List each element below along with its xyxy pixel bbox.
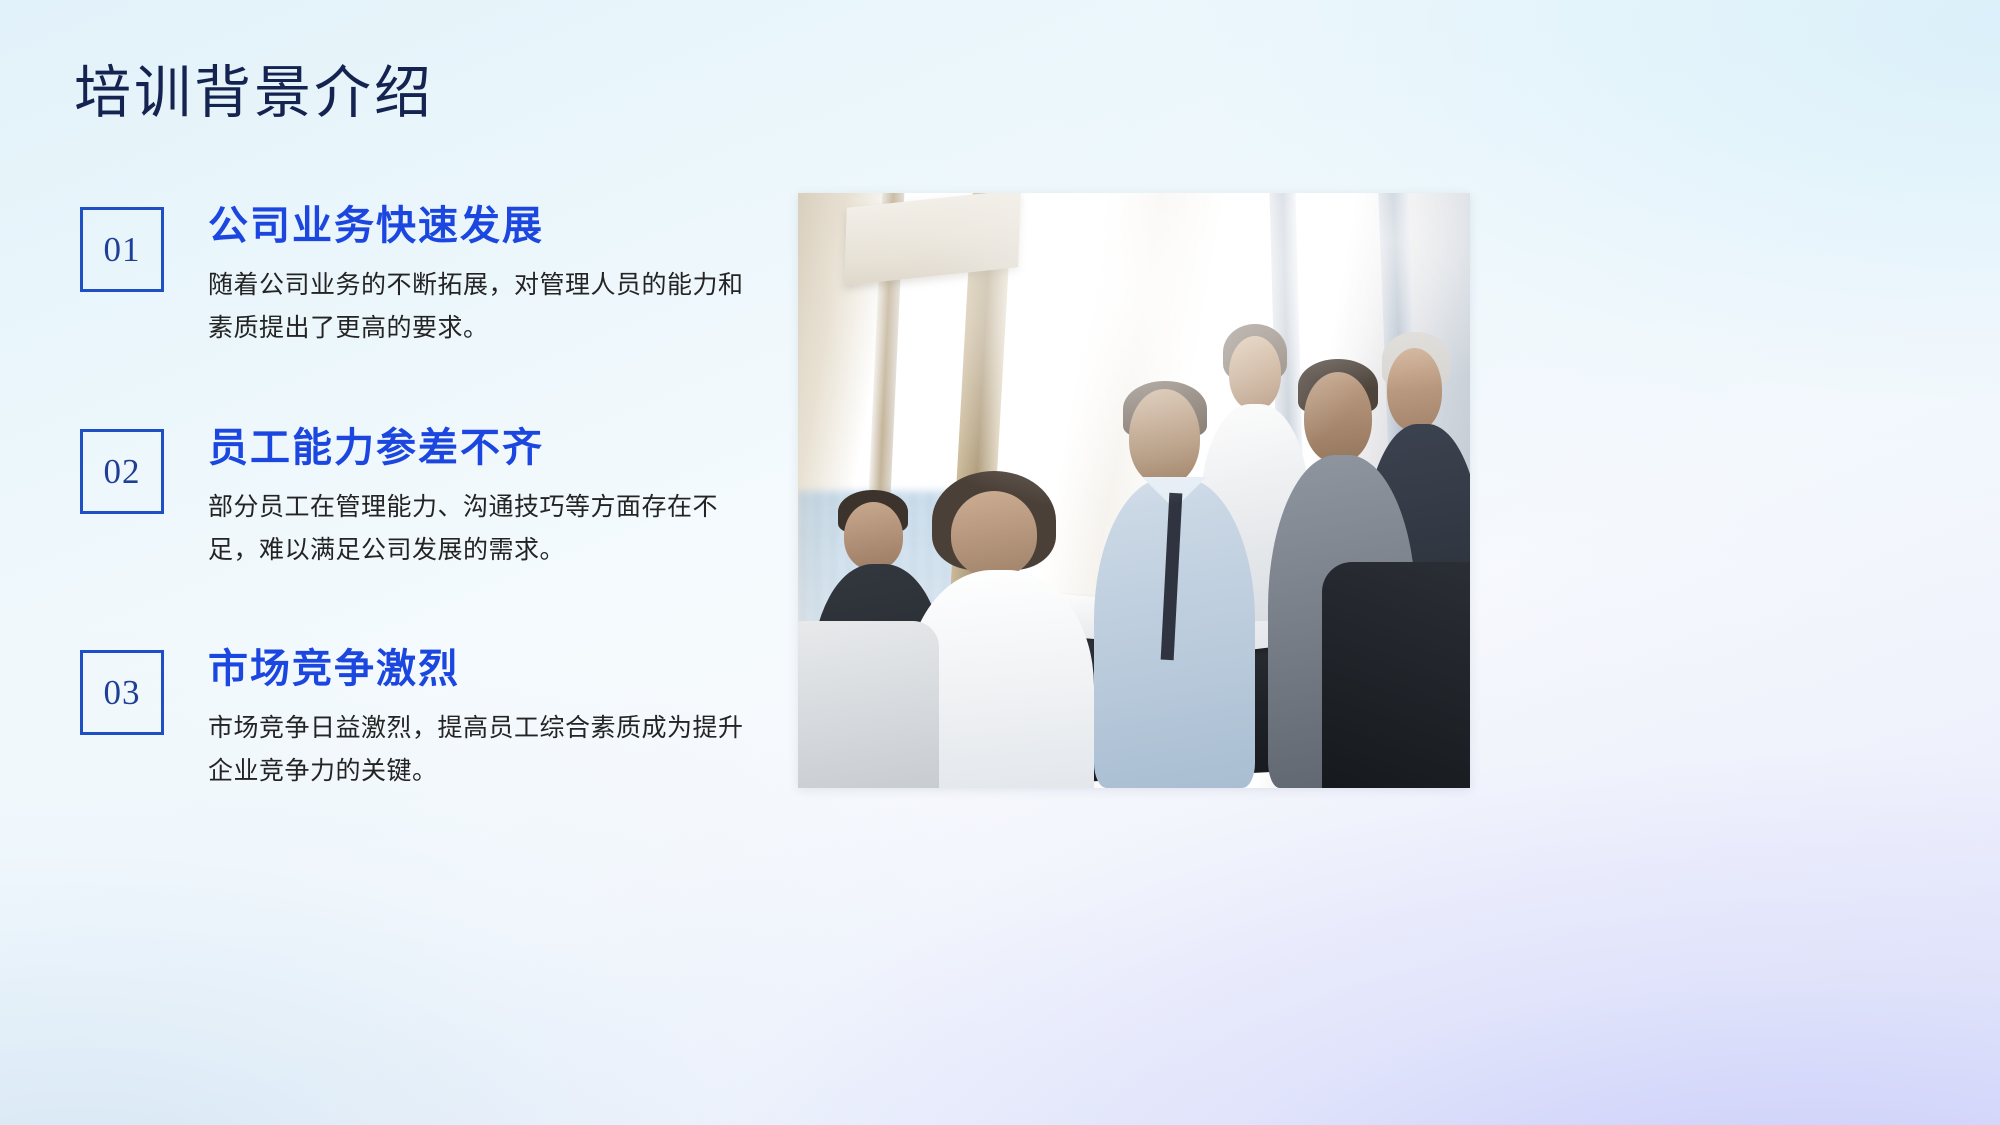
photo-person-head <box>1129 389 1200 485</box>
item-number-box: 01 <box>80 207 164 292</box>
page-title: 培训背景介绍 <box>74 62 434 126</box>
item-number-box: 02 <box>80 429 164 514</box>
item-description: 部分员工在管理能力、沟通技巧等方面存在不足，难以满足公司发展的需求。 <box>208 486 768 572</box>
item-number: 02 <box>83 452 161 492</box>
item-heading: 公司业务快速发展 <box>208 203 768 250</box>
photo-person-speaker <box>1094 389 1255 788</box>
item-description: 市场竞争日益激烈，提高员工综合素质成为提升企业竞争力的关键。 <box>208 707 768 793</box>
item-content: 市场竞争激烈 市场竞争日益激烈，提高员工综合素质成为提升企业竞争力的关键。 <box>208 646 768 793</box>
presentation-slide: 培训背景介绍 01 公司业务快速发展 随着公司业务的不断拓展，对管理人员的能力和… <box>0 0 2000 1125</box>
item-number: 01 <box>83 230 161 270</box>
item-heading: 员工能力参差不齐 <box>208 425 768 472</box>
photo-chair <box>798 621 939 788</box>
item-content: 员工能力参差不齐 部分员工在管理能力、沟通技巧等方面存在不足，难以满足公司发展的… <box>208 425 768 572</box>
photo-person-head <box>951 491 1038 578</box>
item-description: 随着公司业务的不断拓展，对管理人员的能力和素质提出了更高的要求。 <box>208 264 768 350</box>
item-number-box: 03 <box>80 650 164 735</box>
item-number: 03 <box>83 673 161 713</box>
photo-person-head <box>844 502 903 570</box>
business-meeting-photo <box>798 193 1470 788</box>
item-content: 公司业务快速发展 随着公司业务的不断拓展，对管理人员的能力和素质提出了更高的要求… <box>208 203 768 350</box>
photo-chair <box>1322 562 1470 788</box>
photo-person-head <box>1304 372 1372 464</box>
item-heading: 市场竞争激烈 <box>208 646 768 693</box>
